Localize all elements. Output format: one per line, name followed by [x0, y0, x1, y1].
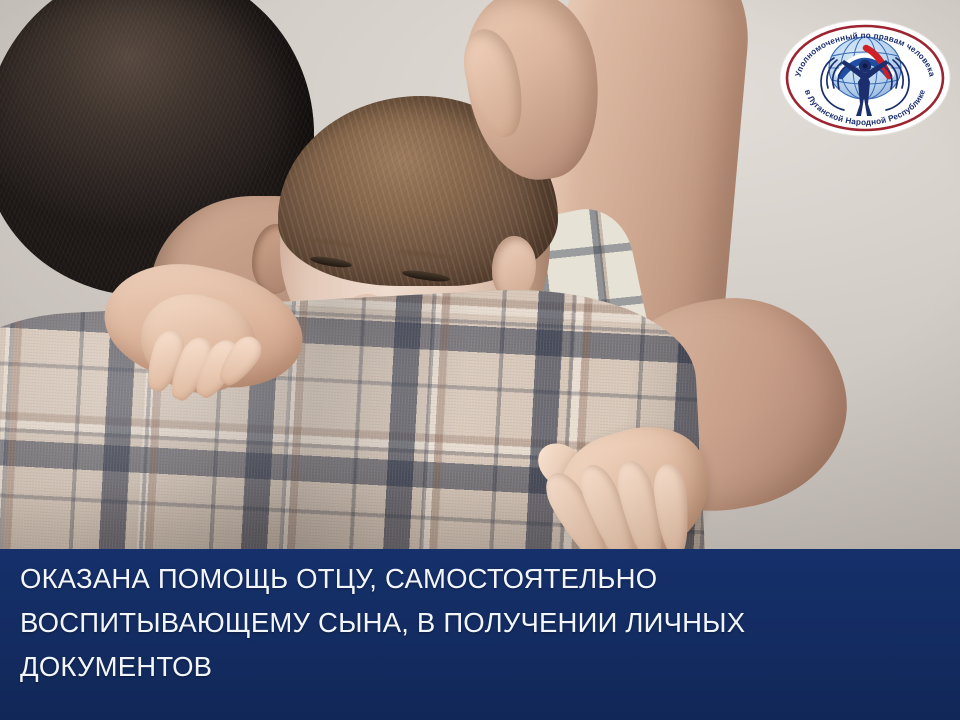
organization-logo: Уполномоченный по правам человека в Луга…	[778, 18, 952, 138]
caption-text: ОКАЗАНА ПОМОЩЬ ОТЦУ, САМОСТОЯТЕЛЬНО ВОСП…	[20, 557, 946, 689]
screenshot-root: Уполномоченный по правам человека в Луга…	[0, 0, 960, 720]
figure-eye	[863, 64, 868, 69]
caption-banner: ОКАЗАНА ПОМОЩЬ ОТЦУ, САМОСТОЯТЕЛЬНО ВОСП…	[0, 549, 960, 720]
